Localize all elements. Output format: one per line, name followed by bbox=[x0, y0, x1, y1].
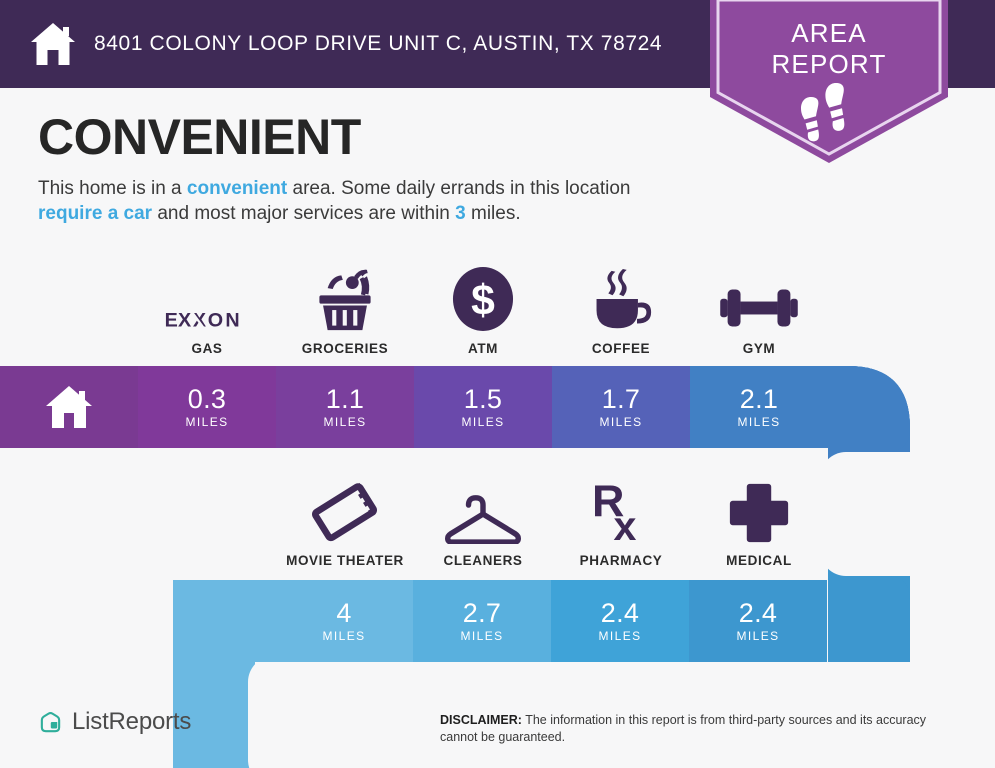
coffee-cup-icon bbox=[587, 262, 655, 332]
clothes-hanger-icon bbox=[445, 474, 521, 544]
amenity-label: ATM bbox=[468, 341, 498, 356]
amenity-label: PHARMACY bbox=[580, 553, 663, 568]
svg-text:x: x bbox=[614, 503, 637, 544]
rx-prescription-icon: R x bbox=[592, 474, 650, 544]
svg-text:N: N bbox=[225, 309, 239, 331]
distance-cell-groceries: 1.1 MILES bbox=[276, 366, 414, 448]
area-report-page: 8401 COLONY LOOP DRIVE UNIT C, AUSTIN, T… bbox=[0, 0, 995, 768]
row2-lead-spacer bbox=[173, 580, 275, 662]
distance-unit: MILES bbox=[322, 629, 365, 643]
distance-cell-movie-theater: 4 MILES bbox=[275, 580, 413, 662]
exxon-logo-icon: E X X O N bbox=[164, 262, 250, 332]
distance-cell-gym: 2.1 MILES bbox=[690, 366, 828, 448]
distance-row-2: 4 MILES 2.7 MILES 2.4 MILES 2.4 MILES bbox=[173, 580, 827, 662]
movie-ticket-icon bbox=[311, 474, 379, 544]
badge-line-1: AREA bbox=[791, 18, 867, 48]
distance-row-1: 0.3 MILES 1.1 MILES 1.5 MILES 1.7 MILES … bbox=[0, 366, 828, 448]
amenity-medical: MEDICAL bbox=[690, 474, 828, 568]
distance-value: 1.7 bbox=[602, 385, 640, 414]
amenity-label: MOVIE THEATER bbox=[286, 553, 404, 568]
distance-unit: MILES bbox=[736, 629, 779, 643]
disclaimer-label: DISCLAIMER: bbox=[440, 713, 522, 727]
distance-value: 2.4 bbox=[601, 599, 639, 628]
area-report-badge: AREA REPORT bbox=[710, 0, 948, 163]
page-description: This home is in a convenient area. Some … bbox=[38, 176, 698, 226]
desc-seg-3: and most major services are within bbox=[152, 203, 455, 224]
desc-highlight-miles: 3 bbox=[455, 203, 466, 224]
header-content: 8401 COLONY LOOP DRIVE UNIT C, AUSTIN, T… bbox=[30, 0, 662, 88]
distance-unit: MILES bbox=[599, 415, 642, 429]
badge-line-2: REPORT bbox=[710, 49, 948, 80]
amenity-label: COFFEE bbox=[592, 341, 650, 356]
amenity-groceries: GROCERIES bbox=[276, 262, 414, 356]
distance-unit: MILES bbox=[737, 415, 780, 429]
desc-highlight-convenient: convenient bbox=[187, 178, 287, 199]
amenity-label: MEDICAL bbox=[726, 553, 792, 568]
amenity-atm: $ ATM bbox=[414, 262, 552, 356]
house-icon bbox=[30, 22, 76, 66]
grocery-basket-icon bbox=[312, 262, 378, 332]
svg-text:$: $ bbox=[471, 277, 495, 325]
dollar-circle-icon: $ bbox=[452, 262, 514, 332]
amenity-movie-theater: MOVIE THEATER bbox=[276, 474, 414, 568]
badge-text: AREA REPORT bbox=[710, 18, 948, 80]
amenity-label: GAS bbox=[191, 341, 222, 356]
distance-cell-pharmacy: 2.4 MILES bbox=[551, 580, 689, 662]
distance-cell-coffee: 1.7 MILES bbox=[552, 366, 690, 448]
listreports-logo[interactable]: ListReports bbox=[38, 708, 191, 736]
distance-unit: MILES bbox=[460, 629, 503, 643]
distance-value: 4 bbox=[336, 599, 351, 628]
listreports-house-icon bbox=[38, 710, 63, 735]
amenity-label: GROCERIES bbox=[302, 341, 388, 356]
svg-text:X: X bbox=[178, 309, 191, 331]
title-block: CONVENIENT This home is in a convenient … bbox=[38, 108, 718, 226]
svg-text:E: E bbox=[165, 309, 178, 331]
amenity-pharmacy: R x PHARMACY bbox=[552, 474, 690, 568]
distance-value: 2.7 bbox=[463, 599, 501, 628]
house-icon bbox=[45, 385, 93, 429]
desc-seg-1: This home is in a bbox=[38, 178, 187, 199]
amenity-label: CLEANERS bbox=[443, 553, 522, 568]
desc-seg-2: area. Some daily errands in this locatio… bbox=[287, 178, 630, 199]
distance-value: 1.1 bbox=[326, 385, 364, 414]
svg-text:O: O bbox=[208, 309, 223, 331]
amenity-cleaners: CLEANERS bbox=[414, 474, 552, 568]
distance-value: 2.1 bbox=[740, 385, 778, 414]
amenity-coffee: COFFEE bbox=[552, 262, 690, 356]
desc-highlight-require-a-car: require a car bbox=[38, 203, 152, 224]
distance-value: 0.3 bbox=[188, 385, 226, 414]
distance-unit: MILES bbox=[323, 415, 366, 429]
distance-unit: MILES bbox=[598, 629, 641, 643]
dumbbell-icon bbox=[720, 262, 798, 332]
left-notch bbox=[248, 656, 368, 768]
distance-unit: MILES bbox=[461, 415, 504, 429]
amenity-icons-row-1: E X X O N GAS bbox=[138, 262, 828, 356]
page-title: CONVENIENT bbox=[38, 108, 718, 166]
distance-unit: MILES bbox=[185, 415, 228, 429]
distance-cell-atm: 1.5 MILES bbox=[414, 366, 552, 448]
distance-value: 2.4 bbox=[739, 599, 777, 628]
distance-cell-gas: 0.3 MILES bbox=[138, 366, 276, 448]
amenity-label: GYM bbox=[743, 341, 776, 356]
distance-value: 1.5 bbox=[464, 385, 502, 414]
distance-cell-medical: 2.4 MILES bbox=[689, 580, 827, 662]
medical-cross-icon bbox=[728, 474, 790, 544]
home-marker-cell bbox=[0, 366, 138, 448]
distance-cell-cleaners: 2.7 MILES bbox=[413, 580, 551, 662]
listreports-wordmark: ListReports bbox=[72, 708, 191, 736]
amenity-icons-row-2: MOVIE THEATER CLEANERS R x PHARMAC bbox=[276, 474, 828, 568]
amenity-gas: E X X O N GAS bbox=[138, 262, 276, 356]
amenity-gym: GYM bbox=[690, 262, 828, 356]
disclaimer: DISCLAIMER: The information in this repo… bbox=[440, 712, 960, 746]
property-address: 8401 COLONY LOOP DRIVE UNIT C, AUSTIN, T… bbox=[94, 32, 662, 56]
desc-seg-4: miles. bbox=[466, 203, 521, 224]
